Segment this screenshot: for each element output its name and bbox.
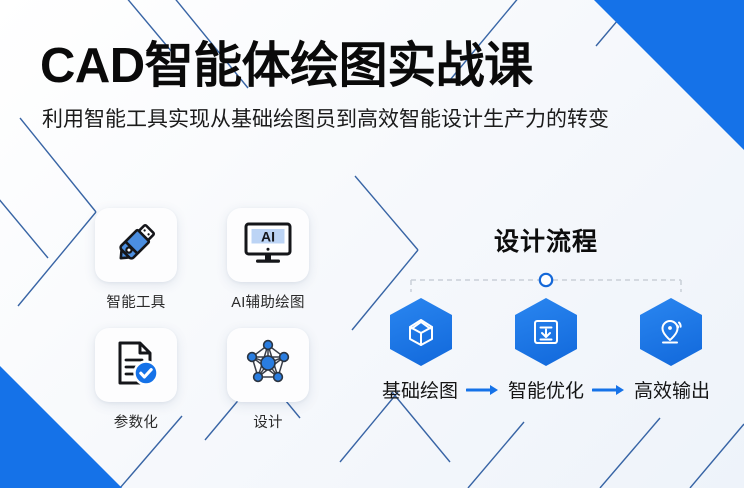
flow-node-base-drawing[interactable] [390, 298, 452, 366]
download-box-icon [531, 317, 561, 347]
feature-grid: 智能工具 AI AI辅助绘图 [88, 208, 316, 432]
flow-title: 设计流程 [370, 222, 722, 258]
feature-label: 设计 [253, 411, 283, 432]
feature-card: AI [227, 208, 309, 282]
flow-bracket [407, 272, 685, 294]
location-pin-icon [655, 316, 687, 348]
flow-node-smart-optimize[interactable] [515, 298, 577, 366]
feature-card [95, 328, 177, 402]
feature-card [95, 208, 177, 282]
flow-step-label-2: 智能优化 [508, 376, 584, 403]
feature-label: AI辅助绘图 [231, 291, 305, 312]
feature-card [227, 328, 309, 402]
cube-box-icon [405, 316, 437, 348]
ai-screen-text: AI [261, 228, 275, 244]
feature-item-ai-drawing: AI AI辅助绘图 [220, 208, 316, 312]
flow-step-label-1: 基础绘图 [382, 376, 458, 403]
flow-step-label-3: 高效输出 [634, 376, 710, 403]
arrow-right-icon [592, 383, 626, 397]
feature-item-smart-tools: 智能工具 [88, 208, 184, 312]
feature-label: 智能工具 [106, 291, 165, 312]
dashed-connector [407, 272, 685, 294]
arrow-right-icon [466, 383, 500, 397]
feature-label: 参数化 [114, 411, 158, 432]
banner-subtitle: 利用智能工具实现从基础绘图员到高效智能设计生产力的转变 [42, 107, 704, 133]
flow-step-labels: 基础绘图 智能优化 高效输出 [370, 376, 722, 403]
ai-monitor-icon: AI [242, 218, 294, 273]
banner-title: CAD智能体绘图实战课 [40, 40, 704, 93]
neural-network-icon [242, 338, 294, 393]
flow-node-row [370, 298, 722, 366]
flow-node-efficient-output[interactable] [640, 298, 702, 366]
banner-header: CAD智能体绘图实战课 利用智能工具实现从基础绘图员到高效智能设计生产力的转变 [40, 40, 704, 133]
promo-banner: CAD智能体绘图实战课 利用智能工具实现从基础绘图员到高效智能设计生产力的转变 [0, 0, 744, 488]
pen-icon [111, 218, 161, 273]
design-flow-panel: 设计流程 [370, 222, 722, 403]
flow-hub-node [540, 274, 552, 286]
feature-item-design: 设计 [220, 328, 316, 432]
feature-item-parametric: 参数化 [88, 328, 184, 432]
document-check-icon [111, 338, 161, 393]
